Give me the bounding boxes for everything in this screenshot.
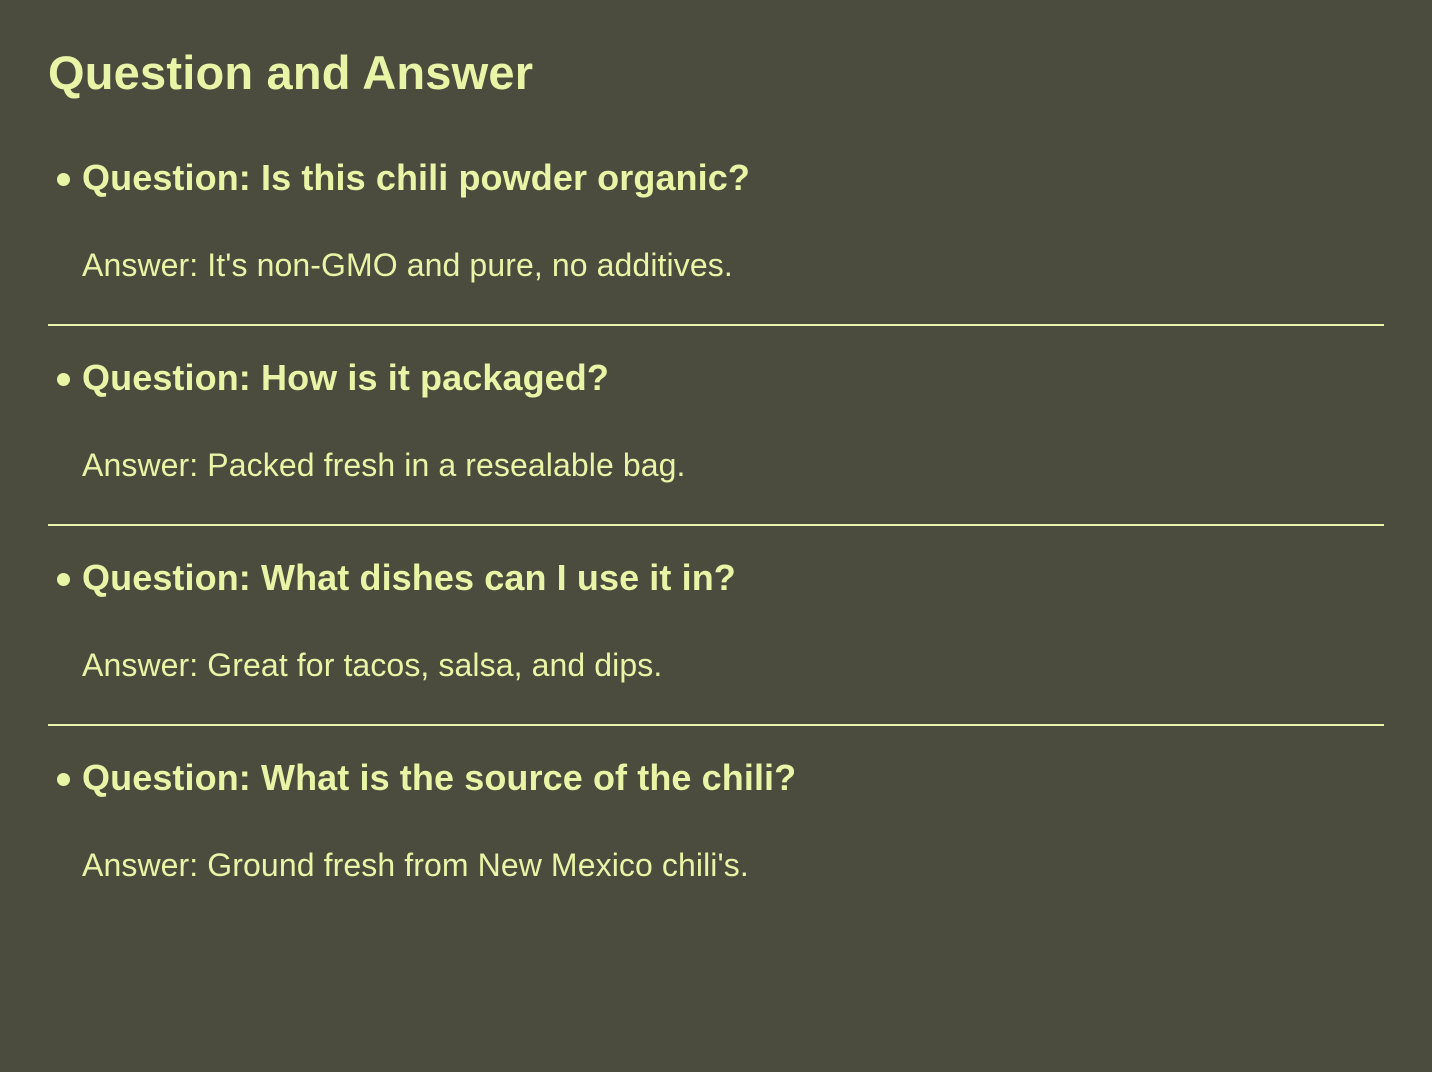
faq-answer: Answer: Great for tacos, salsa, and dips… bbox=[82, 601, 1384, 684]
bullet-dot-icon bbox=[57, 773, 70, 786]
faq-item: Question: What is the source of the chil… bbox=[48, 726, 1384, 884]
faq-list: Question: Is this chili powder organic? … bbox=[48, 101, 1384, 884]
faq-question: Question: What dishes can I use it in? bbox=[82, 556, 1384, 601]
bullet-dot-icon bbox=[57, 173, 70, 186]
faq-question: Question: What is the source of the chil… bbox=[82, 756, 1384, 801]
faq-question-row: Question: Is this chili powder organic? bbox=[48, 156, 1384, 201]
faq-question-row: Question: What dishes can I use it in? bbox=[48, 556, 1384, 601]
faq-item: Question: Is this chili powder organic? … bbox=[48, 101, 1384, 326]
page-title: Question and Answer bbox=[48, 0, 1384, 101]
faq-question: Question: Is this chili powder organic? bbox=[82, 156, 1384, 201]
faq-question-row: Question: How is it packaged? bbox=[48, 356, 1384, 401]
bullet-dot-icon bbox=[57, 373, 70, 386]
faq-item: Question: What dishes can I use it in? A… bbox=[48, 526, 1384, 726]
faq-answer: Answer: It's non-GMO and pure, no additi… bbox=[82, 201, 1384, 284]
faq-answer: Answer: Packed fresh in a resealable bag… bbox=[82, 401, 1384, 484]
faq-question: Question: How is it packaged? bbox=[82, 356, 1384, 401]
bullet-dot-icon bbox=[57, 573, 70, 586]
faq-page: Question and Answer Question: Is this ch… bbox=[0, 0, 1432, 1072]
faq-answer: Answer: Ground fresh from New Mexico chi… bbox=[82, 801, 1384, 884]
faq-question-row: Question: What is the source of the chil… bbox=[48, 756, 1384, 801]
faq-item: Question: How is it packaged? Answer: Pa… bbox=[48, 326, 1384, 526]
